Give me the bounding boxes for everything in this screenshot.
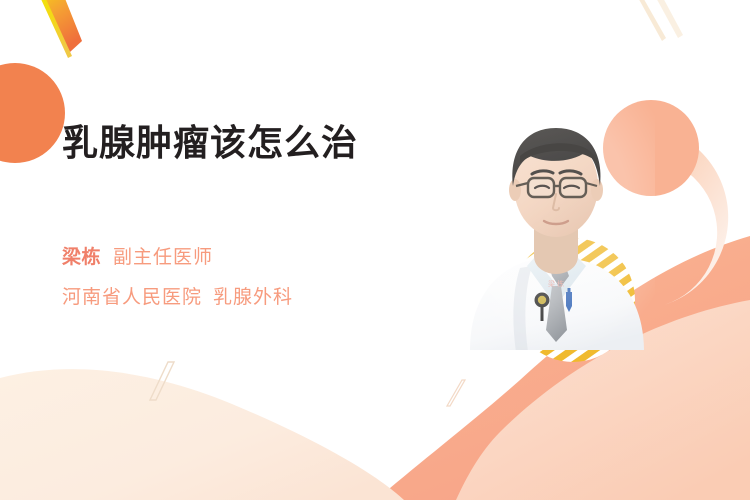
doctor-hospital: 河南省人民医院 bbox=[62, 287, 202, 308]
doctor-credential-row: 梁栋副主任医师 bbox=[62, 248, 213, 267]
doctor-rank: 副主任医师 bbox=[113, 247, 213, 268]
page-title: 乳腺肿瘤该怎么治 bbox=[62, 120, 358, 165]
doctor-affiliation-row: 河南省人民医院乳腺外科 bbox=[62, 288, 293, 307]
doctor-name: 梁栋 bbox=[62, 247, 101, 268]
promo-card: 梁 栋 乳腺肿瘤该怎么治 梁栋副主任医师 河南省人民医院乳腺外科 bbox=[0, 0, 750, 500]
text-block: 乳腺肿瘤该怎么治 梁栋副主任医师 河南省人民医院乳腺外科 bbox=[0, 0, 750, 500]
doctor-department: 乳腺外科 bbox=[213, 287, 293, 308]
